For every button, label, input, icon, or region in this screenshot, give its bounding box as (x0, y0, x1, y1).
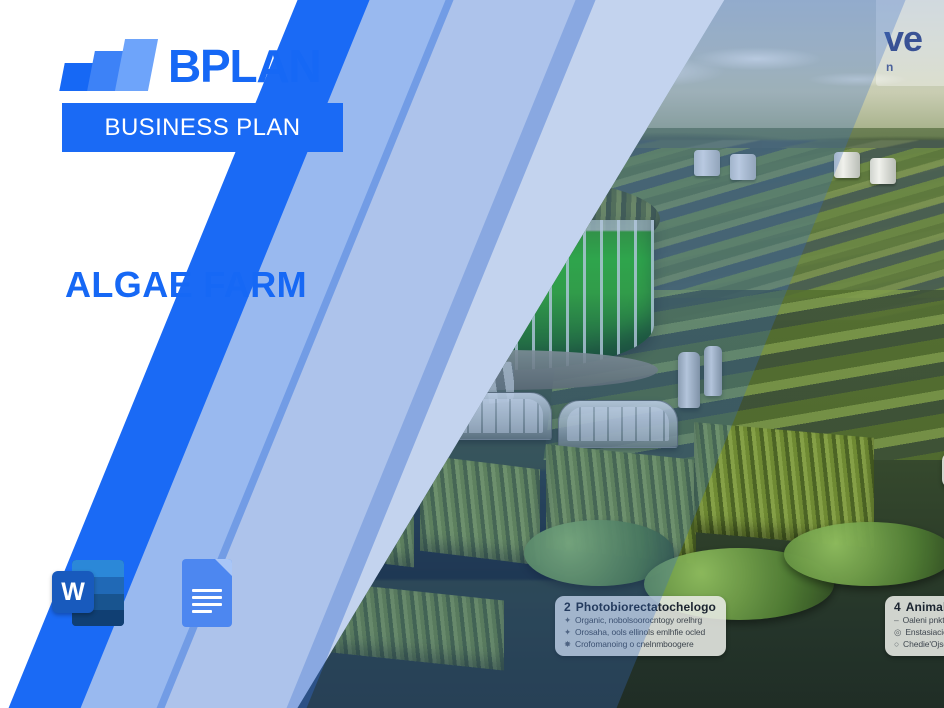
bullet-icon: ○ (894, 639, 899, 649)
storage-tank-icon (554, 156, 580, 182)
process-silo (678, 352, 700, 408)
greenhouse-tunnel (432, 392, 552, 440)
page-title: ALGAE FARM (65, 264, 307, 306)
callout-animal-food: 4Animal Food –Oaleni pnktgiewoplunelorts… (885, 596, 944, 656)
callout-heading: 4Animal Food (894, 601, 944, 614)
storage-tank-icon (834, 152, 860, 178)
callout-number: 2 (564, 600, 571, 614)
google-docs-icon[interactable] (164, 554, 242, 632)
word-badge-letter: W (61, 580, 85, 605)
gdoc-body (182, 559, 232, 627)
process-silo (704, 346, 722, 396)
callout-title: Animal Food (906, 600, 944, 614)
business-plan-banner: BUSINESS PLAN (62, 103, 343, 152)
callout-bullet: ○Chedie'Ojsor aritkg ocionlattnop (894, 638, 944, 650)
logo-bar-large (115, 39, 158, 91)
bullet-icon: ✦ (564, 615, 571, 625)
callout-bullet-text: Chedie'Ojsor aritkg ocionlattnop (903, 639, 944, 649)
gdoc-page-fold (215, 559, 232, 576)
callout-photobioreactor: 2Photobiorectatochelogo ✦Organic, nobols… (555, 596, 726, 656)
brand-logo-block: BPLAN BUSINESS PLAN (62, 33, 352, 152)
callout-bullet-text: Enstasiacio eniis acsostlecls rreed (905, 627, 944, 637)
callout-heading: 2Photobiorectatochelogo (564, 601, 716, 614)
gdoc-text-lines (192, 589, 222, 617)
callout-bullet-text: Crofomanoing o cnelnmboogere (575, 639, 694, 649)
callout-bullet-text: Organic, nobolsoorocntogy orelhrg (575, 615, 702, 625)
callout-bullet: ✦Orosaha, ools ellinols emlhfie ocled (564, 626, 716, 638)
callout-bullet-text: Orosaha, ools ellinols emlhfie ocled (575, 627, 705, 637)
callout-bullet: –Oaleni pnktgiewoplunelorts (894, 614, 944, 626)
gdoc-line (192, 610, 212, 613)
callout-bullet: ✸Crofomanoing o cnelnmboogere (564, 638, 716, 650)
ghost-card-subtitle: n (886, 60, 893, 74)
callout-bullet: ✦Organic, nobolsoorocntogy orelhrg (564, 614, 716, 626)
logo-wordmark: BPLAN (168, 43, 320, 91)
ascending-bars-icon (62, 39, 158, 91)
bullet-icon: ✦ (564, 627, 571, 637)
word-badge: W (52, 571, 94, 613)
ghost-overlay-card: ve n (876, 0, 944, 86)
gdoc-line (192, 589, 222, 592)
business-plan-banner-label: BUSINESS PLAN (105, 114, 301, 142)
callout-number: 4 (894, 600, 901, 614)
logo-row: BPLAN (62, 33, 352, 91)
ghost-card-title: ve (884, 18, 922, 60)
storage-tank-icon (870, 158, 896, 184)
storage-tank-icon (730, 154, 756, 180)
bioreactor-algae-column (348, 220, 654, 370)
greenhouse-panes (441, 399, 543, 433)
greenhouse-tunnel (558, 400, 678, 448)
photobioreactor-tank (342, 176, 660, 388)
storage-tank-row (544, 150, 904, 186)
gdoc-line (192, 603, 222, 606)
callout-bullet-text: Oaleni pnktgiewoplunelorts (903, 615, 944, 625)
cover-page: ve n 2Photobiorectatochelogo ✦Organic, n… (0, 0, 944, 708)
lily-pad-cluster (784, 522, 944, 586)
microsoft-word-icon[interactable]: W (50, 554, 128, 632)
crop-row (294, 461, 414, 568)
file-format-icons: W (50, 554, 242, 632)
bioreactor-support-ribs (348, 220, 654, 370)
greenhouse-panes (567, 407, 669, 441)
gdoc-line (192, 596, 222, 599)
bullet-icon: ◎ (894, 627, 901, 637)
callout-bullet: ◎Enstasiacio eniis acsostlecls rreed (894, 626, 944, 638)
bullet-icon: – (894, 615, 899, 625)
crop-row (420, 455, 540, 566)
callout-title: Photobiorectatochelogo (576, 600, 716, 614)
storage-tank-icon (592, 152, 618, 178)
bullet-icon: ✸ (564, 639, 571, 649)
storage-tank-icon (694, 150, 720, 176)
